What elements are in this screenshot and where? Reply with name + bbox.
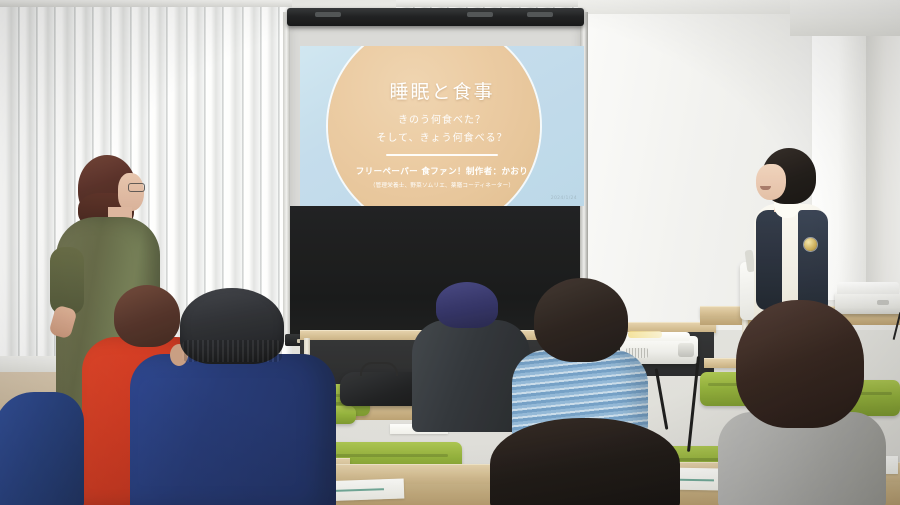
blind-headrail-left	[0, 0, 292, 7]
ceiling-soffit-right	[790, 0, 900, 36]
blind-headrail-center	[396, 0, 578, 7]
photo-scene: 睡眠と食事 きのう何食べた？ そして、きょう何食べる？ フリーペーパー 食ファン…	[0, 0, 900, 505]
audience-navy-beanie	[128, 288, 338, 505]
blind-slat	[0, 0, 18, 400]
screen-roller-case	[287, 8, 584, 26]
audience-body	[0, 392, 84, 505]
presenter-right-vest-left	[756, 210, 782, 310]
projected-slide: 睡眠と食事 きのう何食べた？ そして、きょう何食べる？ フリーペーパー 食ファン…	[300, 46, 584, 206]
knit-hat	[436, 282, 498, 328]
audience-foreground	[490, 418, 680, 505]
glasses-icon	[128, 183, 145, 192]
slide-credit: フリーペーパー 食ファン！制作者：かおり	[356, 165, 528, 177]
presenter-left-sleeve	[50, 247, 84, 315]
screen-case-bracket	[527, 12, 553, 17]
projector-lens	[678, 343, 694, 357]
presenter-right-vest-right	[798, 210, 828, 314]
wall-column-edge	[866, 0, 900, 300]
audience-hair	[534, 278, 628, 362]
slide-subtitle-2: そして、きょう何食べる？	[376, 129, 507, 144]
screen-case-bracket	[467, 12, 493, 17]
blind-slat	[20, 0, 36, 400]
bag-handle	[360, 362, 398, 376]
screen-case-bracket	[315, 12, 341, 17]
presenter-right-face	[756, 164, 786, 200]
audience-body	[130, 354, 336, 505]
slide-title: 睡眠と食事	[389, 77, 494, 104]
chair-slot	[336, 454, 448, 457]
presenter-left-face	[118, 173, 144, 211]
slide-divider	[386, 154, 498, 156]
ceiling-soffit	[575, 0, 815, 14]
audience-hair	[490, 418, 680, 505]
slide-subtitle-1: きのう何食べた？	[398, 111, 486, 126]
audience-hair	[736, 300, 864, 428]
badge-icon	[804, 238, 817, 251]
slide-date: 2024/1/24	[551, 196, 577, 201]
slide-credit-sub: （管理栄養士、野菜ソムリエ、薬膳コーディネーター）	[370, 181, 514, 189]
audience-left-edge	[0, 392, 84, 505]
audience-grey-top	[718, 300, 888, 505]
beanie-ribbing	[182, 340, 282, 362]
